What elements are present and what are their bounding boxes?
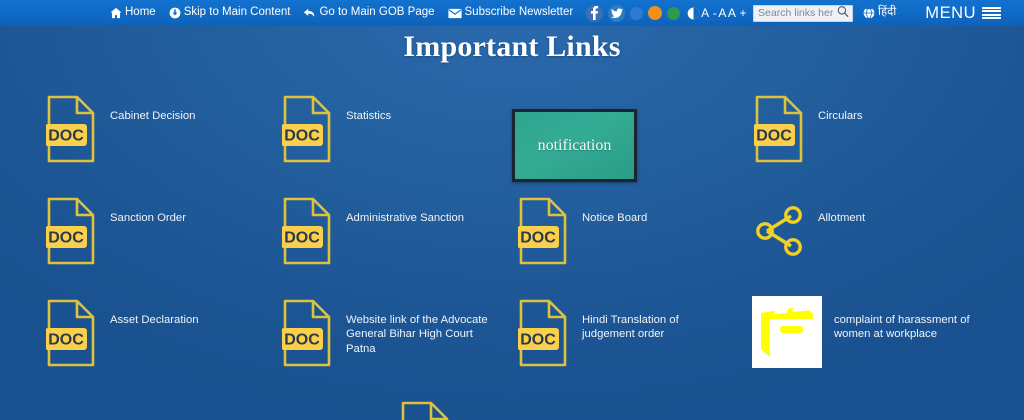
link-label: Asset Declaration (110, 313, 199, 327)
link-label: Administrative Sanction (346, 211, 464, 225)
link-partial-bottom[interactable]: DOC (398, 398, 464, 420)
link-label: Notice Board (582, 211, 647, 225)
go-to-main-gob-page-link[interactable]: Go to Main GOB Page (303, 7, 434, 19)
links-row: DOC Asset Declaration DOC Website link o… (0, 296, 1024, 398)
link-label: Sanction Order (110, 211, 186, 225)
svg-text:DOC: DOC (520, 230, 556, 247)
links-row-partial: DOC (0, 398, 1024, 420)
link-label: complaint of harassment of women at work… (834, 313, 984, 342)
page-title: Important Links (0, 30, 1024, 64)
back-arrow-icon (303, 7, 316, 19)
svg-text:DOC: DOC (48, 128, 84, 145)
link-cabinet-decision[interactable]: DOC Cabinet Decision (44, 92, 280, 194)
doc-icon: DOC (280, 92, 334, 166)
svg-text:DOC: DOC (48, 332, 84, 349)
link-hindi-translation-judgement[interactable]: DOC Hindi Translation of judgement order (516, 296, 752, 398)
share-icon (752, 194, 806, 268)
facebook-icon[interactable] (586, 5, 603, 22)
home-label: Home (125, 7, 156, 19)
doc-icon: DOC (752, 92, 806, 166)
font-decrease-button[interactable]: A - (701, 6, 717, 20)
search-box (753, 5, 853, 22)
social-dot-green-icon[interactable] (667, 7, 680, 20)
skip-to-main-content-link[interactable]: Skip to Main Content (169, 7, 291, 19)
svg-text:DOC: DOC (756, 128, 792, 145)
link-notice-board[interactable]: DOC Notice Board (516, 194, 752, 296)
twitter-icon[interactable] (608, 5, 625, 22)
go-to-main-gob-page-label: Go to Main GOB Page (319, 7, 434, 19)
svg-text:DOC: DOC (284, 128, 320, 145)
hamburger-icon[interactable] (982, 6, 1001, 21)
notification-label: notification (538, 137, 612, 155)
link-allotment[interactable]: Allotment (752, 194, 988, 296)
link-label: Hindi Translation of judgement order (582, 313, 732, 342)
link-label: Allotment (818, 211, 865, 225)
language-hindi-link[interactable]: हिंदी (863, 7, 896, 19)
language-hindi-label: हिंदी (878, 7, 896, 19)
link-complaint-harassment-women[interactable]: complaint of harassment of women at work… (752, 296, 988, 398)
subscribe-newsletter-link[interactable]: Subscribe Newsletter (448, 7, 574, 19)
skip-to-main-content-label: Skip to Main Content (184, 7, 291, 19)
subscribe-newsletter-label: Subscribe Newsletter (465, 7, 574, 19)
svg-text:DOC: DOC (284, 230, 320, 247)
social-dot-orange-icon[interactable] (648, 6, 662, 20)
link-label: Statistics (346, 109, 391, 123)
home-link[interactable]: Home (110, 7, 156, 19)
font-increase-button[interactable]: A + (728, 6, 747, 20)
globe-icon (863, 7, 875, 19)
notification-tile[interactable]: notification (512, 109, 637, 182)
home-icon (110, 7, 122, 19)
doc-icon: DOC (280, 194, 334, 268)
doc-icon: DOC (280, 296, 334, 370)
search-input[interactable] (753, 5, 853, 22)
box-icon (752, 296, 822, 368)
link-asset-declaration[interactable]: DOC Asset Declaration (44, 296, 280, 398)
font-normal-button[interactable]: A (718, 6, 727, 20)
top-utility-bar: Home Skip to Main Content Go to Main GOB… (0, 0, 1024, 26)
social-dot-blue-icon[interactable] (630, 7, 643, 20)
link-statistics[interactable]: DOC Statistics (280, 92, 516, 194)
link-label: Cabinet Decision (110, 109, 195, 123)
link-label: Website link of the Advocate General Bih… (346, 313, 496, 356)
menu-button[interactable]: MENU (925, 4, 1001, 23)
doc-icon: DOC (44, 296, 98, 370)
link-sanction-order[interactable]: DOC Sanction Order (44, 194, 280, 296)
accessibility-controls: A - A A + (687, 6, 747, 20)
link-circulars[interactable]: DOC Circulars (752, 92, 988, 194)
doc-icon: DOC (44, 92, 98, 166)
doc-icon: DOC (516, 194, 570, 268)
contrast-icon[interactable] (687, 7, 700, 20)
envelope-icon (448, 8, 462, 19)
links-row: DOC Sanction Order DOC Administrative Sa… (0, 194, 1024, 296)
menu-label: MENU (925, 4, 976, 23)
important-links-page: Home Skip to Main Content Go to Main GOB… (0, 0, 1024, 420)
doc-icon: DOC (44, 194, 98, 268)
svg-text:DOC: DOC (520, 332, 556, 349)
svg-text:DOC: DOC (48, 230, 84, 247)
doc-icon: DOC (516, 296, 570, 370)
doc-icon: DOC (398, 398, 452, 420)
download-circle-icon (169, 7, 181, 19)
link-advocate-general-website[interactable]: DOC Website link of the Advocate General… (280, 296, 516, 398)
link-label: Circulars (818, 109, 863, 123)
link-administrative-sanction[interactable]: DOC Administrative Sanction (280, 194, 516, 296)
svg-text:DOC: DOC (284, 332, 320, 349)
